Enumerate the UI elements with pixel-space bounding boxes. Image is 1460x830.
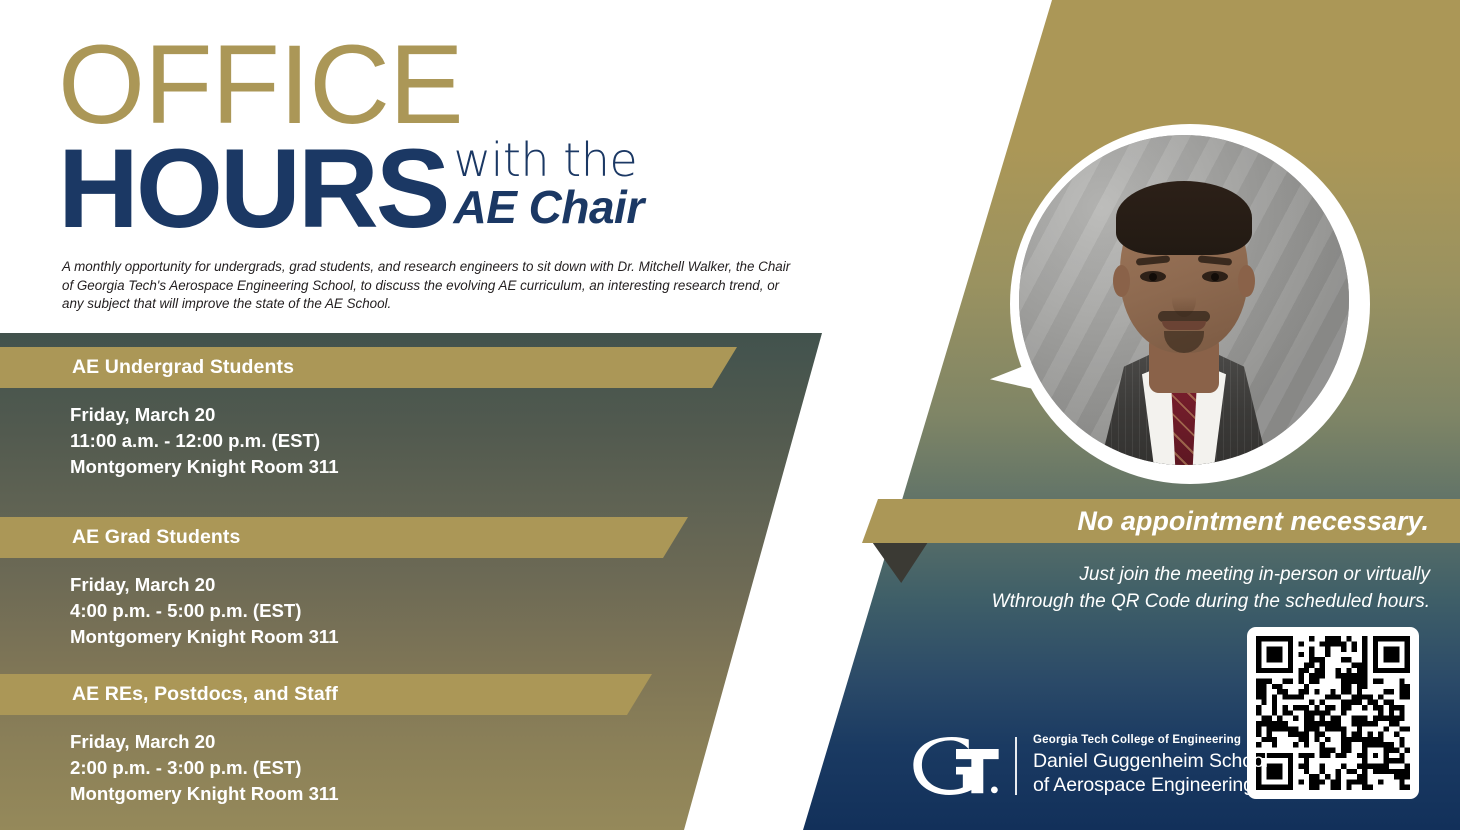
appointment-banner-wrap: No appointment necessary. — [862, 499, 1460, 547]
chair-portrait-bubble — [1004, 120, 1376, 492]
session-details-grad: Friday, March 20 4:00 p.m. - 5:00 p.m. (… — [70, 572, 720, 651]
session-block-undergrad: AE Undergrad Students Friday, March 20 1… — [0, 347, 760, 481]
session-location: Montgomery Knight Room 311 — [70, 454, 760, 480]
session-block-staff: AE REs, Postdocs, and Staff Friday, Marc… — [0, 674, 680, 808]
portrait-eye-right — [1202, 271, 1228, 282]
join-line-2: Wthrough the QR Code during the schedule… — [870, 589, 1430, 616]
appointment-banner-text: No appointment necessary. — [1077, 506, 1429, 537]
session-date: Friday, March 20 — [70, 572, 720, 598]
logo-text: Georgia Tech College of Engineering Dani… — [1033, 734, 1268, 798]
logo-divider — [1015, 737, 1017, 795]
qr-code[interactable] — [1247, 627, 1419, 799]
session-title: AE Grad Students — [72, 526, 240, 549]
intro-paragraph: A monthly opportunity for undergrads, gr… — [62, 258, 804, 314]
headline-hours-row: HOURS with the AE Chair — [58, 137, 818, 237]
portrait-head — [1120, 187, 1248, 353]
portrait-photo — [1019, 135, 1349, 465]
headline-ae-chair: AE Chair — [453, 183, 643, 231]
session-time: 4:00 p.m. - 5:00 p.m. (EST) — [70, 598, 720, 624]
logo-college: Georgia Tech College of Engineering — [1033, 734, 1268, 746]
session-details-undergrad: Friday, March 20 11:00 a.m. - 12:00 p.m.… — [70, 402, 760, 481]
gt-monogram-icon — [913, 737, 999, 795]
join-line-1: Just join the meeting in-person or virtu… — [870, 562, 1430, 589]
session-band-staff: AE REs, Postdocs, and Staff — [0, 674, 652, 715]
portrait-hair — [1116, 181, 1252, 255]
session-date: Friday, March 20 — [70, 729, 680, 755]
session-time: 11:00 a.m. - 12:00 p.m. (EST) — [70, 428, 760, 454]
gt-logo: Georgia Tech College of Engineering Dani… — [913, 734, 1268, 798]
session-title: AE REs, Postdocs, and Staff — [72, 683, 338, 706]
headline-office: OFFICE — [58, 36, 818, 135]
portrait-brow-right — [1198, 255, 1233, 266]
logo-school-line-1: Daniel Guggenheim School — [1033, 750, 1268, 774]
session-location: Montgomery Knight Room 311 — [70, 624, 720, 650]
session-band-undergrad: AE Undergrad Students — [0, 347, 737, 388]
logo-school-line-2: of Aerospace Engineering — [1033, 774, 1268, 798]
session-details-staff: Friday, March 20 2:00 p.m. - 3:00 p.m. (… — [70, 729, 680, 808]
headline-hours: HOURS — [58, 141, 447, 237]
portrait-ear-right — [1238, 265, 1255, 297]
poster-headline: OFFICE HOURS with the AE Chair — [58, 36, 818, 237]
portrait-eye-left — [1140, 271, 1166, 282]
portrait-mouth — [1162, 321, 1206, 330]
headline-subtitle-block: with the AE Chair — [453, 137, 643, 237]
appointment-banner: No appointment necessary. — [862, 499, 1460, 543]
portrait-ear-left — [1113, 265, 1130, 297]
session-location: Montgomery Knight Room 311 — [70, 781, 680, 807]
session-band-grad: AE Grad Students — [0, 517, 688, 558]
session-block-grad: AE Grad Students Friday, March 20 4:00 p… — [0, 517, 720, 651]
poster-canvas: OFFICE HOURS with the AE Chair A monthly… — [0, 0, 1460, 830]
join-instructions: Just join the meeting in-person or virtu… — [870, 562, 1430, 616]
qr-code-matrix — [1256, 636, 1410, 790]
headline-with-the: with the — [453, 137, 643, 183]
session-date: Friday, March 20 — [70, 402, 760, 428]
session-title: AE Undergrad Students — [72, 356, 294, 379]
session-time: 2:00 p.m. - 3:00 p.m. (EST) — [70, 755, 680, 781]
portrait-goatee — [1164, 331, 1204, 353]
portrait-brow-left — [1136, 255, 1171, 266]
